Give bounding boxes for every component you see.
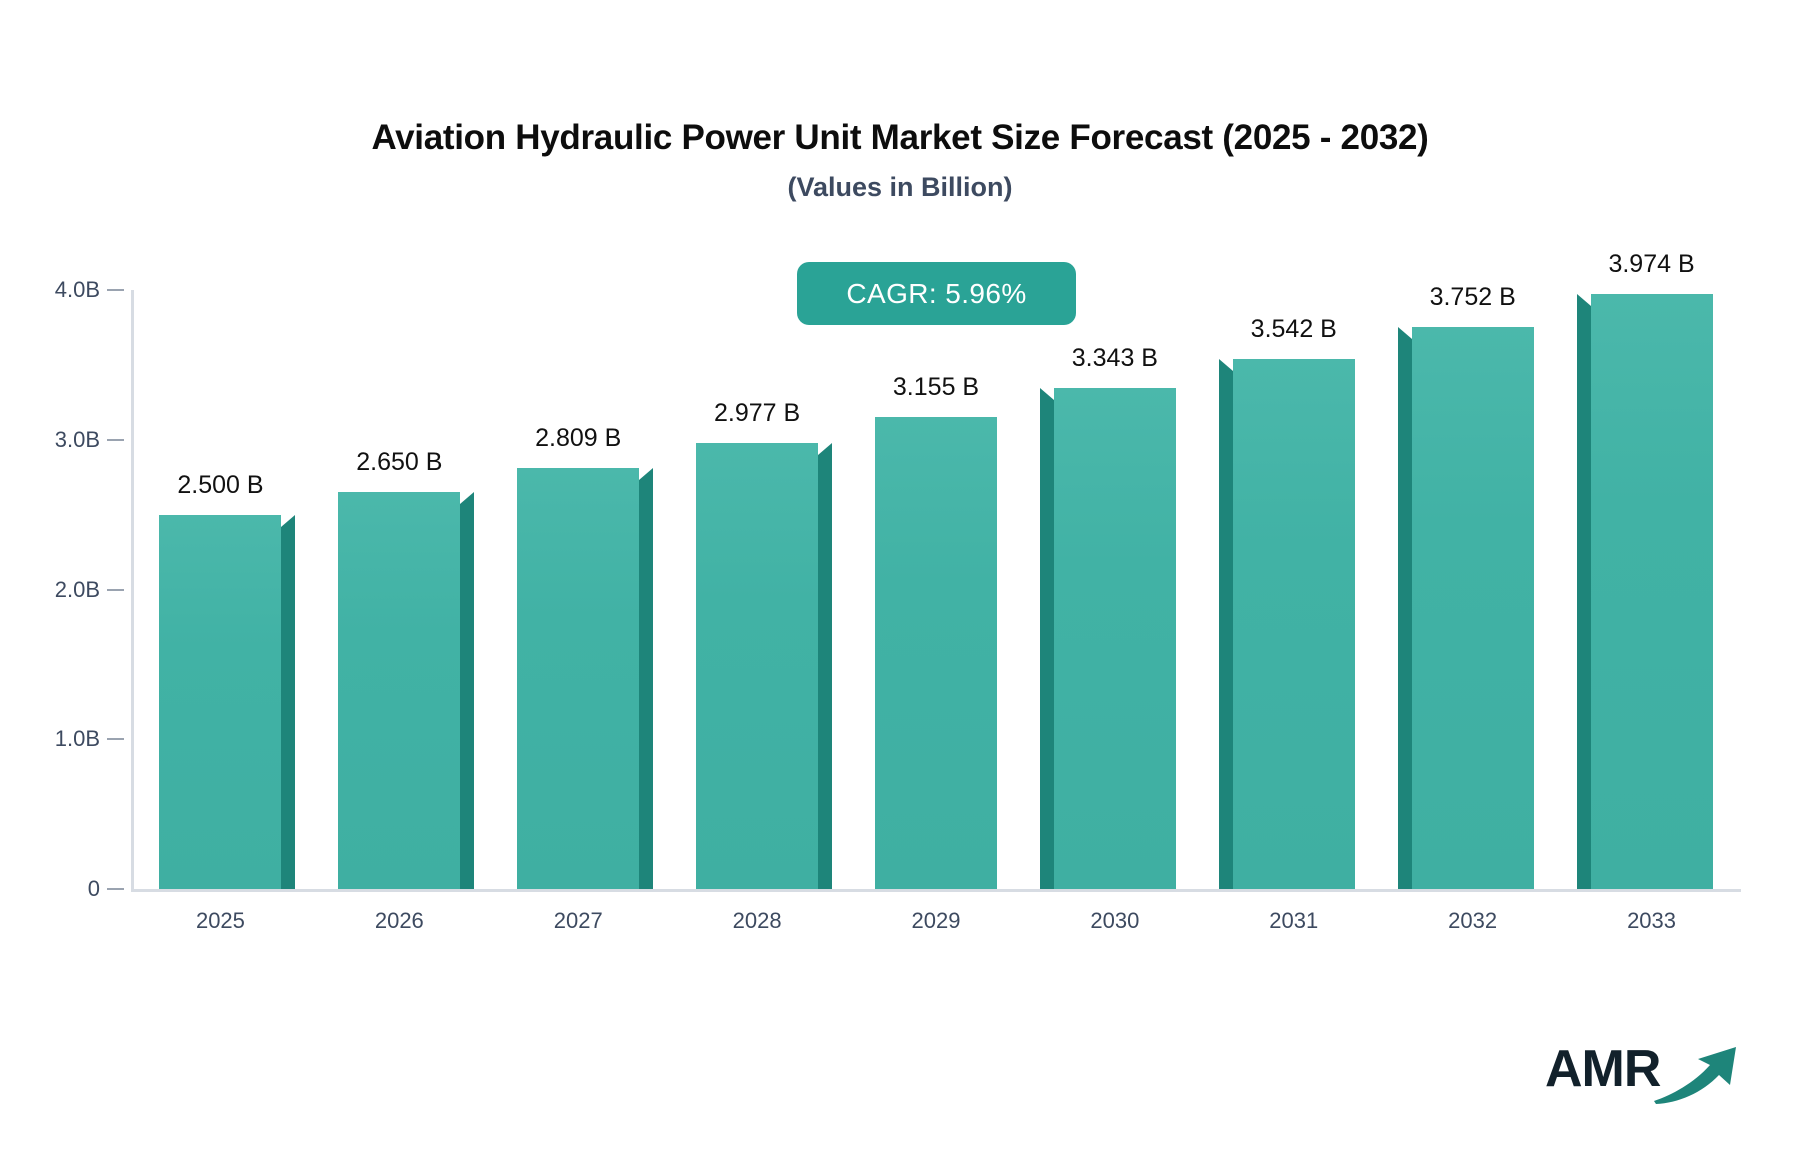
bar-front-face bbox=[875, 417, 997, 889]
bar bbox=[1233, 359, 1355, 889]
y-axis-tick-mark bbox=[107, 289, 124, 291]
y-axis-tick-mark bbox=[107, 589, 124, 591]
x-axis-tick-label: 2032 bbox=[1448, 908, 1497, 934]
bar-value-label: 3.155 B bbox=[893, 373, 979, 402]
y-axis-tick-mark bbox=[107, 738, 124, 740]
y-axis-tick-label: 1.0B bbox=[0, 726, 100, 752]
x-axis-line bbox=[131, 889, 1741, 892]
bar-top-face bbox=[1040, 388, 1054, 400]
bar-side-face bbox=[818, 455, 832, 889]
bar bbox=[696, 443, 818, 889]
bar-side-face bbox=[1398, 339, 1412, 889]
bar bbox=[1591, 294, 1713, 889]
plot-area: 4.0B3.0B2.0B1.0B0 2.500 B2.650 B2.809 B2… bbox=[0, 0, 1800, 1156]
y-axis-tick-label: 4.0B bbox=[0, 277, 100, 303]
x-axis-tick-label: 2027 bbox=[554, 908, 603, 934]
bar-side-face bbox=[1577, 306, 1591, 889]
bar-top-face bbox=[460, 492, 474, 504]
y-axis-tick-label: 0 bbox=[0, 876, 100, 902]
y-axis-tick-label: 2.0B bbox=[0, 577, 100, 603]
x-axis-tick-label: 2025 bbox=[196, 908, 245, 934]
y-axis-tick-label: 3.0B bbox=[0, 427, 100, 453]
growth-arrow-icon bbox=[1650, 1041, 1745, 1107]
bar-front-face bbox=[1054, 388, 1176, 889]
bar-side-face bbox=[460, 504, 474, 889]
y-axis-line bbox=[131, 290, 134, 891]
bar-front-face bbox=[338, 492, 460, 889]
bar-side-face bbox=[1219, 371, 1233, 889]
bar-side-face bbox=[281, 527, 295, 889]
bar bbox=[159, 515, 281, 889]
bar-top-face bbox=[639, 468, 653, 480]
bar-value-label: 2.809 B bbox=[535, 424, 621, 453]
bar-value-label: 3.542 B bbox=[1251, 315, 1337, 344]
bar-value-label: 2.977 B bbox=[714, 399, 800, 428]
y-axis-tick-mark bbox=[107, 439, 124, 441]
amr-logo-text: AMR bbox=[1545, 1043, 1660, 1095]
bar-top-face bbox=[1577, 294, 1591, 306]
bar-front-face bbox=[517, 468, 639, 889]
bar-value-label: 3.974 B bbox=[1608, 250, 1694, 279]
x-axis-tick-label: 2031 bbox=[1269, 908, 1318, 934]
x-axis-tick-label: 2028 bbox=[733, 908, 782, 934]
bar bbox=[1054, 388, 1176, 889]
bar bbox=[875, 417, 997, 889]
bar-front-face bbox=[696, 443, 818, 889]
bar-top-face bbox=[1219, 359, 1233, 371]
bar-value-label: 3.752 B bbox=[1430, 283, 1516, 312]
bar-front-face bbox=[1591, 294, 1713, 889]
bar-front-face bbox=[159, 515, 281, 889]
bar bbox=[517, 468, 639, 889]
bar bbox=[1412, 327, 1534, 889]
amr-logo: AMR bbox=[1545, 1043, 1745, 1113]
bar-side-face bbox=[639, 480, 653, 889]
bar-front-face bbox=[1233, 359, 1355, 889]
bar-value-label: 2.500 B bbox=[177, 471, 263, 500]
chart-canvas: Aviation Hydraulic Power Unit Market Siz… bbox=[0, 0, 1800, 1156]
bar-top-face bbox=[281, 515, 295, 527]
x-axis-tick-label: 2026 bbox=[375, 908, 424, 934]
bar-value-label: 2.650 B bbox=[356, 448, 442, 477]
bar-value-label: 3.343 B bbox=[1072, 344, 1158, 373]
y-axis-tick-mark bbox=[107, 888, 124, 890]
bar-top-face bbox=[818, 443, 832, 455]
x-axis-tick-label: 2030 bbox=[1090, 908, 1139, 934]
bar-side-face bbox=[1040, 400, 1054, 889]
bar bbox=[338, 492, 460, 889]
x-axis-tick-label: 2033 bbox=[1627, 908, 1676, 934]
bar-front-face bbox=[1412, 327, 1534, 889]
x-axis-tick-label: 2029 bbox=[912, 908, 961, 934]
bar-top-face bbox=[1398, 327, 1412, 339]
